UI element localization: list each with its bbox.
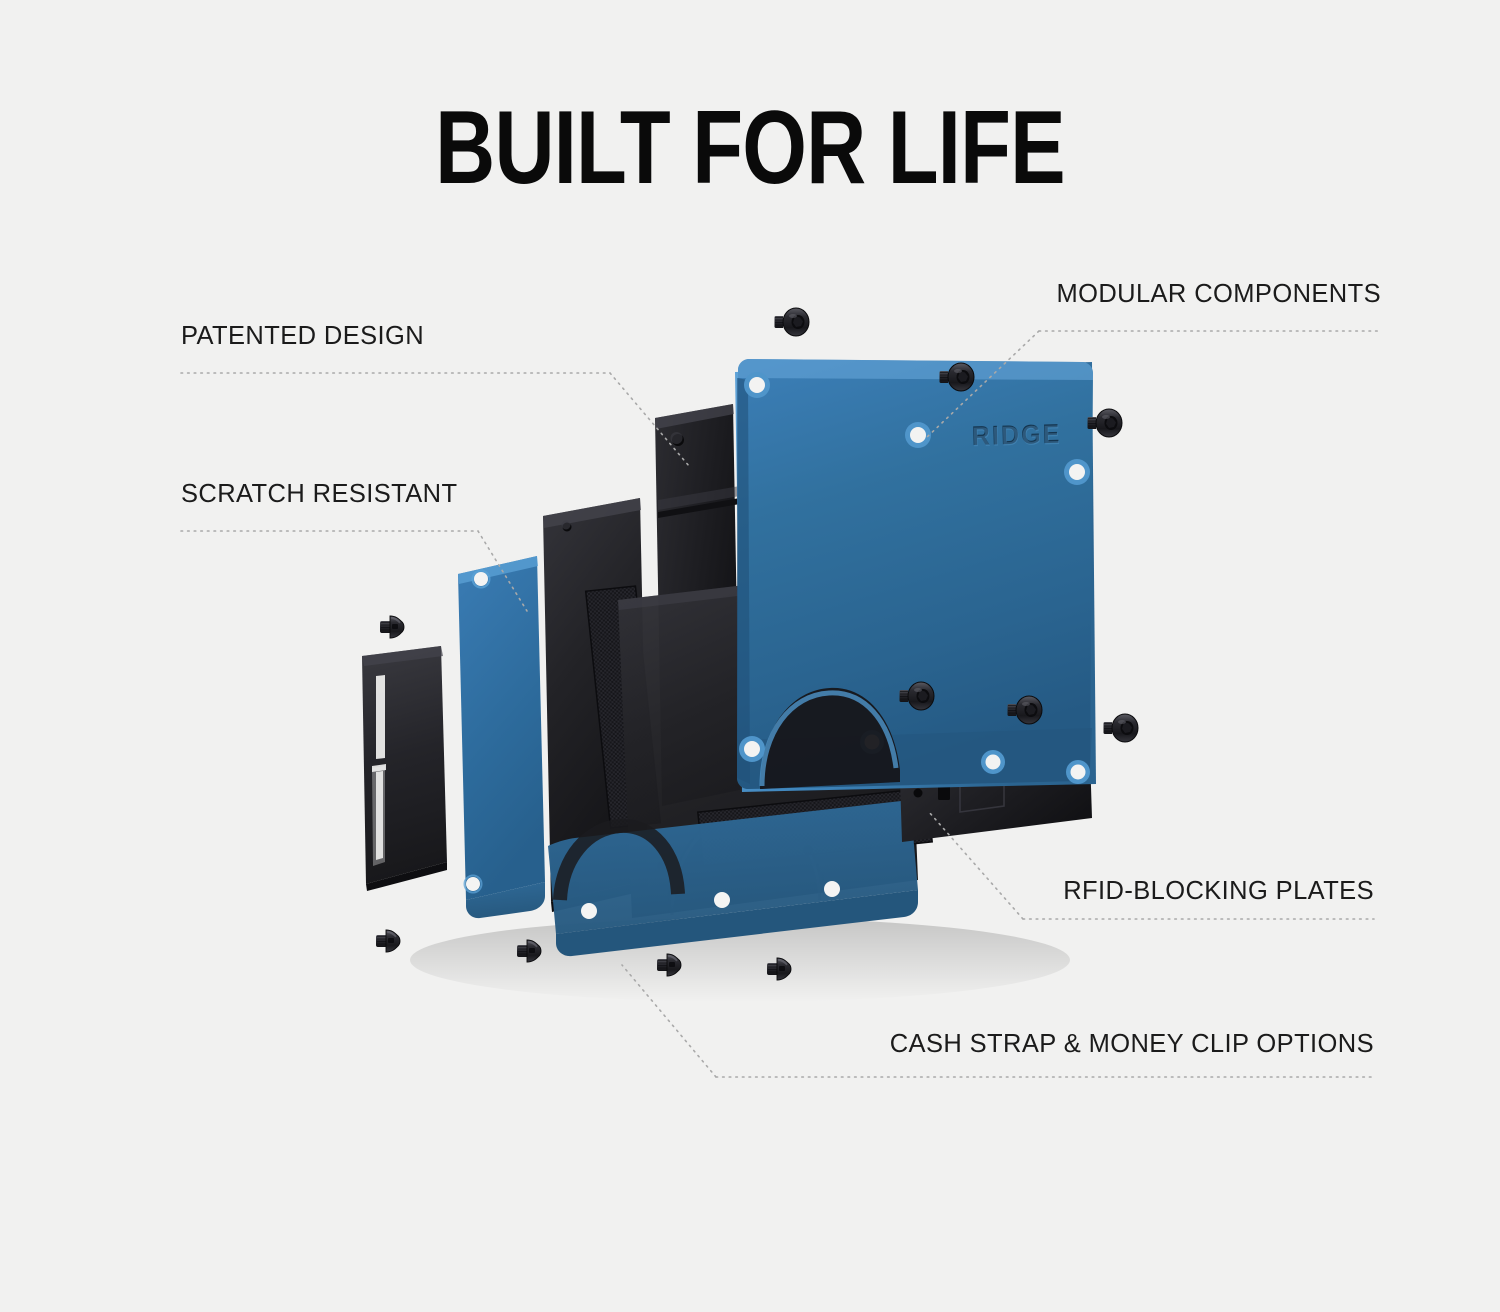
infographic-canvas: BUILT FOR LIFE [0, 0, 1500, 1312]
component-money-clip [362, 646, 447, 891]
callout-label-scratch-resistant: SCRATCH RESISTANT [181, 480, 457, 509]
screw-bottom-a [376, 930, 400, 952]
callout-label-rfid-blocking-plates: RFID-BLOCKING PLATES [1063, 877, 1374, 906]
callout-label-modular-components: MODULAR COMPONENTS [1056, 280, 1381, 309]
screw-mid-right [1104, 714, 1139, 742]
brand-logo: RIDGE RIDGE [971, 420, 1062, 453]
component-blue-back-plate [458, 556, 545, 918]
screw-top-center [775, 308, 810, 336]
callout-label-cash-strap-money-clip: CASH STRAP & MONEY CLIP OPTIONS [890, 1030, 1374, 1059]
product-illustration: RIDGE RIDGE [0, 0, 1500, 1312]
callout-label-patented-design: PATENTED DESIGN [181, 322, 424, 351]
screw-mid-left [380, 616, 404, 638]
component-blue-front-plate: RIDGE RIDGE [735, 359, 1096, 792]
brand-logo-emboss: RIDGE [972, 421, 1062, 452]
